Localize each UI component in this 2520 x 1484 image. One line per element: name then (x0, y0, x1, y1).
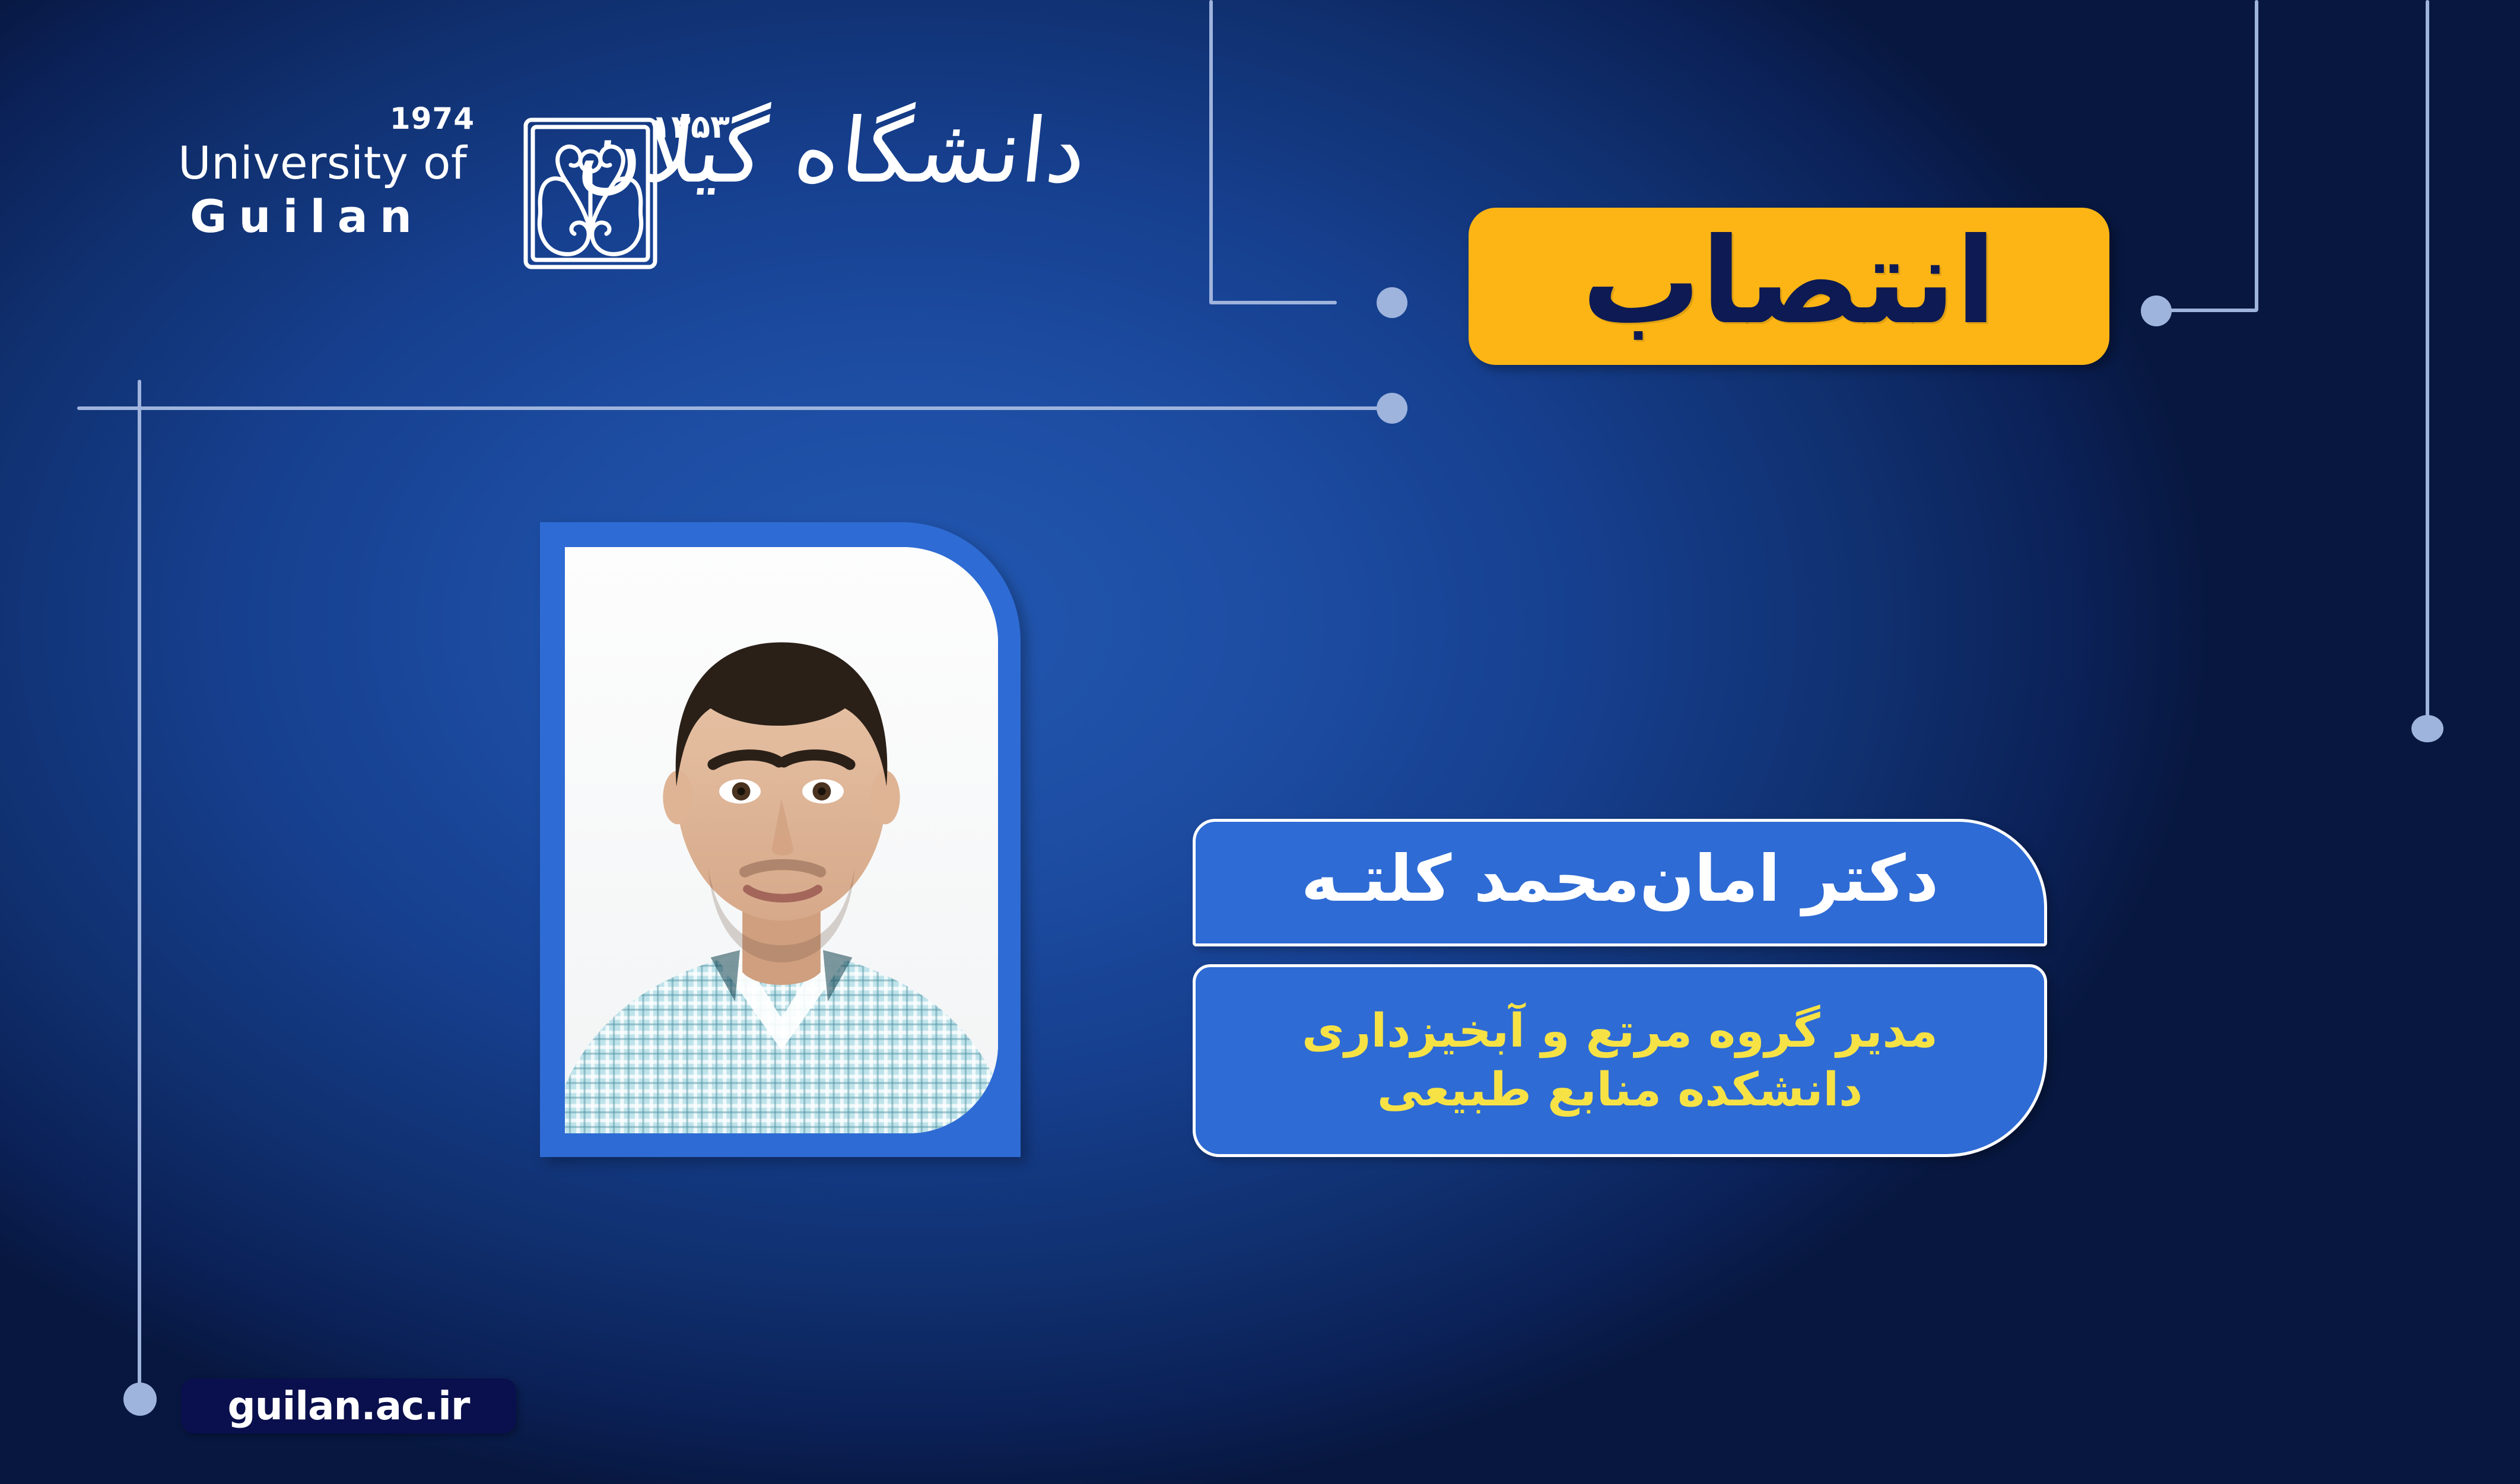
decor-dot-right-horizontal-end (2141, 295, 2172, 326)
announcement-badge: انتصاب (1469, 208, 2109, 365)
decor-line-left-horizontal (77, 406, 1383, 410)
logo-founded-year-gregorian: 1974 (390, 104, 475, 134)
person-role-line-2: دانشکده منابع طبیعی (1377, 1061, 1863, 1119)
decor-line-right-inner-vertical (2255, 0, 2258, 312)
logo-english-block: 1974 University of Guilan (178, 141, 510, 239)
logo-persian-block: ۱۳۵۳ دانشگاه گیلان (670, 113, 1086, 267)
decor-line-top-center-vertical (1209, 0, 1213, 304)
decor-line-left-vertical (138, 380, 141, 1388)
person-role-box: مدیر گروه مرتع و آبخیزداری دانشکده منابع… (1193, 964, 2047, 1157)
person-name-box: دکتر امان‌محمد کلتـه (1193, 819, 2047, 946)
portrait-frame (540, 522, 1021, 1157)
university-logo: 1974 University of Guilan (178, 113, 1086, 267)
decor-dot-left-vertical-end (123, 1383, 157, 1416)
poster-canvas: 1974 University of Guilan (0, 0, 2520, 1484)
logo-english-line2: Guilan (178, 194, 510, 239)
logo-english-line1: University of (178, 141, 510, 186)
website-url-badge[interactable]: guilan.ac.ir (181, 1378, 516, 1434)
announcement-badge-label: انتصاب (1582, 223, 1996, 341)
decor-dot-right-outer-end (2411, 715, 2443, 742)
decor-line-top-center-horizontal (1209, 301, 1337, 304)
decor-dot-top-center (1377, 287, 1407, 318)
website-url-label: guilan.ac.ir (228, 1383, 470, 1429)
person-name: دکتر امان‌محمد کلتـه (1301, 847, 1939, 911)
decor-line-right-outer-vertical (2426, 0, 2429, 721)
portrait-photo (565, 547, 998, 1133)
person-role-line-1: مدیر گروه مرتع و آبخیزداری (1302, 1002, 1938, 1060)
decor-dot-left-horizontal-end (1377, 393, 1407, 424)
decor-line-right-horizontal (2160, 309, 2258, 312)
logo-persian-name: دانشگاه گیلان (574, 107, 1091, 196)
